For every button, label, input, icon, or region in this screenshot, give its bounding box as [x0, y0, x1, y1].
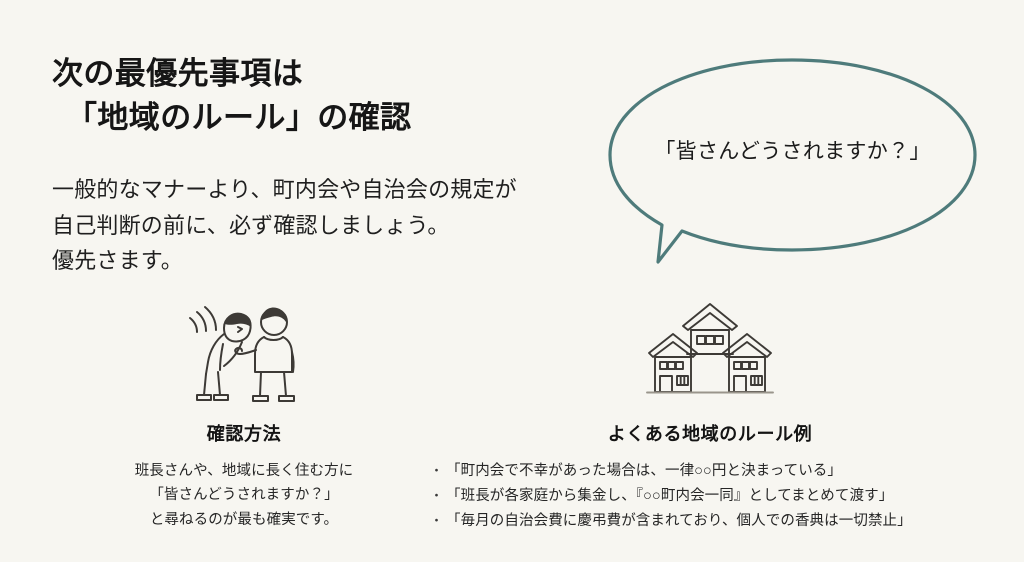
body-line-3: 優先さます。: [52, 243, 622, 279]
list-item: ・ 「町内会で不幸があった場合は、一律○○円と決まっている」: [430, 459, 990, 484]
left-column-heading: 確認方法: [84, 420, 404, 446]
bullet-text: 「毎月の自治会費に慶弔費が含まれており、個人での香典は一切禁止」: [446, 509, 912, 534]
body-line-1: 一般的なマナーより、町内会や自治会の規定が: [52, 172, 622, 208]
bullet-marker-icon: ・: [430, 485, 446, 507]
body-paragraph: 一般的なマナーより、町内会や自治会の規定が 自己判断の前に、必ず確認しましょう。…: [52, 172, 622, 279]
speech-bubble: 「皆さんどうされますか？」: [600, 50, 985, 275]
bowing-people-icon: [84, 296, 404, 408]
left-column-line-1: 班長さんや、地域に長く住む方に: [84, 459, 404, 483]
right-column-bullet-list: ・ 「町内会で不幸があった場合は、一律○○円と決まっている」 ・ 「班長が各家庭…: [430, 459, 990, 534]
list-item: ・ 「班長が各家庭から集金し、『○○町内会一同』としてまとめて渡す」: [430, 484, 990, 509]
right-column: よくある地域のルール例 ・ 「町内会で不幸があった場合は、一律○○円と決まってい…: [430, 296, 990, 550]
page-title: 次の最優先事項は 「地域のルール」の確認: [52, 52, 612, 140]
left-column: 確認方法 班長さんや、地域に長く住む方に 「皆さんどうされますか？」 と尋ねるの…: [84, 296, 404, 532]
slide-canvas: 次の最優先事項は 「地域のルール」の確認 一般的なマナーより、町内会や自治会の規…: [0, 0, 1024, 562]
bullet-marker-icon: ・: [430, 510, 446, 532]
bullet-text: 「班長が各家庭から集金し、『○○町内会一同』としてまとめて渡す」: [446, 484, 893, 509]
houses-icon: [430, 296, 990, 408]
bullet-text: 「町内会で不幸があった場合は、一律○○円と決まっている」: [446, 459, 842, 484]
title-line-2: 「地域のルール」の確認: [52, 96, 612, 140]
speech-bubble-text: 「皆さんどうされますか？」: [600, 50, 985, 250]
right-column-heading: よくある地域のルール例: [430, 420, 990, 446]
left-column-line-3: と尋ねるのが最も確実です。: [84, 508, 404, 532]
body-line-2: 自己判断の前に、必ず確認しましょう。: [52, 208, 622, 244]
bullet-marker-icon: ・: [430, 460, 446, 482]
title-line-1: 次の最優先事項は: [52, 52, 612, 96]
left-column-line-2: 「皆さんどうされますか？」: [84, 483, 404, 507]
list-item: ・ 「毎月の自治会費に慶弔費が含まれており、個人での香典は一切禁止」: [430, 509, 990, 534]
left-column-text: 班長さんや、地域に長く住む方に 「皆さんどうされますか？」 と尋ねるのが最も確実…: [84, 459, 404, 532]
